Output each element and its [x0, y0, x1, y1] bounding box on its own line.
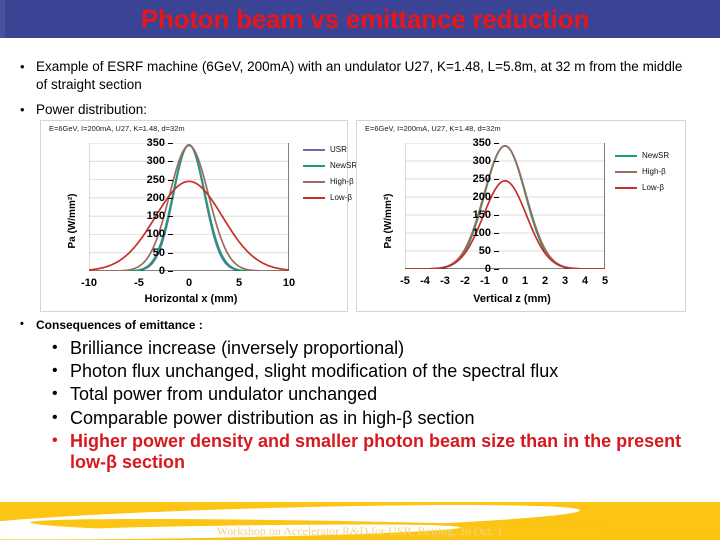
horizontal-plot-svg	[89, 143, 289, 271]
x-tick-label: 5	[236, 277, 242, 289]
y-tick-mark	[494, 233, 499, 234]
x-tick-label: -1	[480, 275, 490, 287]
y-tick-mark	[168, 198, 173, 199]
bullet-consequences: • Consequences of emittance :	[20, 318, 203, 332]
series-high-β	[405, 146, 605, 269]
y-tick-label: 0	[457, 263, 491, 275]
y-tick-mark	[494, 143, 499, 144]
x-tick-label: -3	[440, 275, 450, 287]
y-tick-label: 50	[457, 245, 491, 257]
x-tick-label: 4	[582, 275, 588, 287]
chart-horizontal-ylabel: Pa (W/mm²)	[67, 194, 78, 249]
x-tick-label: -5	[400, 275, 410, 287]
legend-item: USR	[303, 145, 357, 154]
list-item-label: Photon flux unchanged, slight modificati…	[70, 361, 558, 382]
bullet-power-distribution: • Power distribution:	[20, 101, 420, 119]
legend-label: Low-β	[642, 183, 664, 192]
list-item: •Comparable power distribution as in hig…	[52, 408, 707, 429]
x-tick-label: -4	[420, 275, 430, 287]
series-low-β	[89, 181, 289, 270]
y-tick-label: 200	[131, 192, 165, 204]
y-tick-mark	[168, 253, 173, 254]
chart-horizontal-plot	[89, 143, 289, 271]
legend-swatch	[303, 149, 325, 151]
consequences-list: •Brilliance increase (inversely proporti…	[52, 338, 707, 475]
x-tick-label: -5	[134, 277, 144, 289]
x-tick-label: -10	[81, 277, 97, 289]
bullet-marker: •	[20, 318, 36, 332]
chart-horizontal-legend: USRNewSRHigh-βLow-β	[303, 145, 357, 209]
bullet-marker: •	[52, 384, 70, 405]
y-tick-label: 50	[131, 247, 165, 259]
legend-label: NewSR	[330, 161, 357, 170]
legend-label: USR	[330, 145, 347, 154]
y-tick-label: 100	[457, 227, 491, 239]
y-tick-mark	[168, 143, 173, 144]
y-tick-mark	[494, 269, 499, 270]
series-high-β	[89, 146, 289, 271]
y-tick-label: 150	[457, 209, 491, 221]
legend-label: High-β	[642, 167, 666, 176]
chart-horizontal: E=6GeV, I=200mA, U27, K=1.48, d=32m Pa (…	[40, 120, 348, 312]
x-tick-label: 3	[562, 275, 568, 287]
legend-item: NewSR	[615, 151, 669, 160]
y-tick-mark	[168, 180, 173, 181]
list-item: •Photon flux unchanged, slight modificat…	[52, 361, 707, 382]
x-tick-label: 5	[602, 275, 608, 287]
bullet-example: • Example of ESRF machine (6GeV, 200mA) …	[20, 58, 690, 94]
y-tick-mark	[494, 215, 499, 216]
list-item: •Total power from undulator unchanged	[52, 384, 707, 405]
chart-horizontal-caption: E=6GeV, I=200mA, U27, K=1.48, d=32m	[49, 124, 185, 133]
legend-item: NewSR	[303, 161, 357, 170]
bullet-power-distribution-text: Power distribution:	[36, 101, 147, 119]
y-tick-mark	[494, 197, 499, 198]
legend-swatch	[615, 171, 637, 173]
y-tick-label: 150	[131, 210, 165, 222]
list-item-label: Total power from undulator unchanged	[70, 384, 377, 405]
bullet-marker: •	[20, 101, 36, 119]
footer-text: Workshop on Accelerator R&D for USR, Bei…	[0, 524, 720, 539]
y-tick-label: 250	[131, 174, 165, 186]
chart-vertical-ylabel: Pa (W/mm²)	[383, 194, 394, 249]
x-tick-label: 10	[283, 277, 295, 289]
legend-label: High-β	[330, 177, 354, 186]
bullet-marker: •	[52, 431, 70, 473]
y-tick-label: 300	[131, 155, 165, 167]
page-title: Photon beam vs emittance reduction	[0, 4, 720, 35]
y-tick-label: 100	[131, 228, 165, 240]
chart-vertical-xlabel: Vertical z (mm)	[387, 293, 637, 305]
y-tick-mark	[494, 251, 499, 252]
legend-item: High-β	[615, 167, 669, 176]
y-tick-label: 250	[457, 173, 491, 185]
y-tick-label: 350	[457, 137, 491, 149]
chart-vertical-legend: NewSRHigh-βLow-β	[615, 151, 669, 199]
x-tick-label: 2	[542, 275, 548, 287]
y-tick-mark	[168, 161, 173, 162]
x-tick-label: 0	[186, 277, 192, 289]
legend-item: Low-β	[615, 183, 669, 192]
list-item: •Brilliance increase (inversely proporti…	[52, 338, 707, 359]
list-item-label: Higher power density and smaller photon …	[70, 431, 707, 473]
series-newsr	[405, 146, 605, 269]
bullet-marker: •	[52, 338, 70, 359]
legend-item: Low-β	[303, 193, 357, 202]
chart-vertical: E=6GeV, I=200mA, U27, K=1.48, d=32m Pa (…	[356, 120, 686, 312]
bullet-marker: •	[52, 408, 70, 429]
list-item: •Higher power density and smaller photon…	[52, 431, 707, 473]
bullet-marker: •	[52, 361, 70, 382]
series-low-β	[405, 181, 605, 269]
y-tick-label: 350	[131, 137, 165, 149]
y-tick-label: 300	[457, 155, 491, 167]
list-item-label: Brilliance increase (inversely proportio…	[70, 338, 404, 359]
legend-label: NewSR	[642, 151, 669, 160]
legend-item: High-β	[303, 177, 357, 186]
bullet-example-text: Example of ESRF machine (6GeV, 200mA) wi…	[36, 58, 690, 94]
bullet-consequences-text: Consequences of emittance :	[36, 318, 203, 332]
y-tick-label: 200	[457, 191, 491, 203]
legend-swatch	[303, 197, 325, 199]
y-tick-mark	[494, 179, 499, 180]
y-tick-label: 0	[131, 265, 165, 277]
legend-swatch	[615, 187, 637, 189]
legend-swatch	[303, 165, 325, 167]
x-tick-label: 1	[522, 275, 528, 287]
chart-horizontal-xlabel: Horizontal x (mm)	[71, 293, 311, 305]
y-tick-mark	[168, 216, 173, 217]
y-tick-mark	[168, 271, 173, 272]
x-tick-label: -2	[460, 275, 470, 287]
slide-root: Photon beam vs emittance reduction • Exa…	[0, 0, 720, 540]
vertical-plot-svg	[405, 143, 605, 269]
list-item-label: Comparable power distribution as in high…	[70, 408, 475, 429]
series-usr	[89, 145, 289, 271]
legend-swatch	[615, 155, 637, 157]
chart-vertical-caption: E=6GeV, I=200mA, U27, K=1.48, d=32m	[365, 124, 501, 133]
legend-label: Low-β	[330, 193, 352, 202]
series-newsr	[89, 145, 289, 271]
bullet-marker: •	[20, 58, 36, 94]
chart-vertical-plot	[405, 143, 605, 269]
y-tick-mark	[168, 234, 173, 235]
x-tick-label: 0	[502, 275, 508, 287]
legend-swatch	[303, 181, 325, 183]
y-tick-mark	[494, 161, 499, 162]
